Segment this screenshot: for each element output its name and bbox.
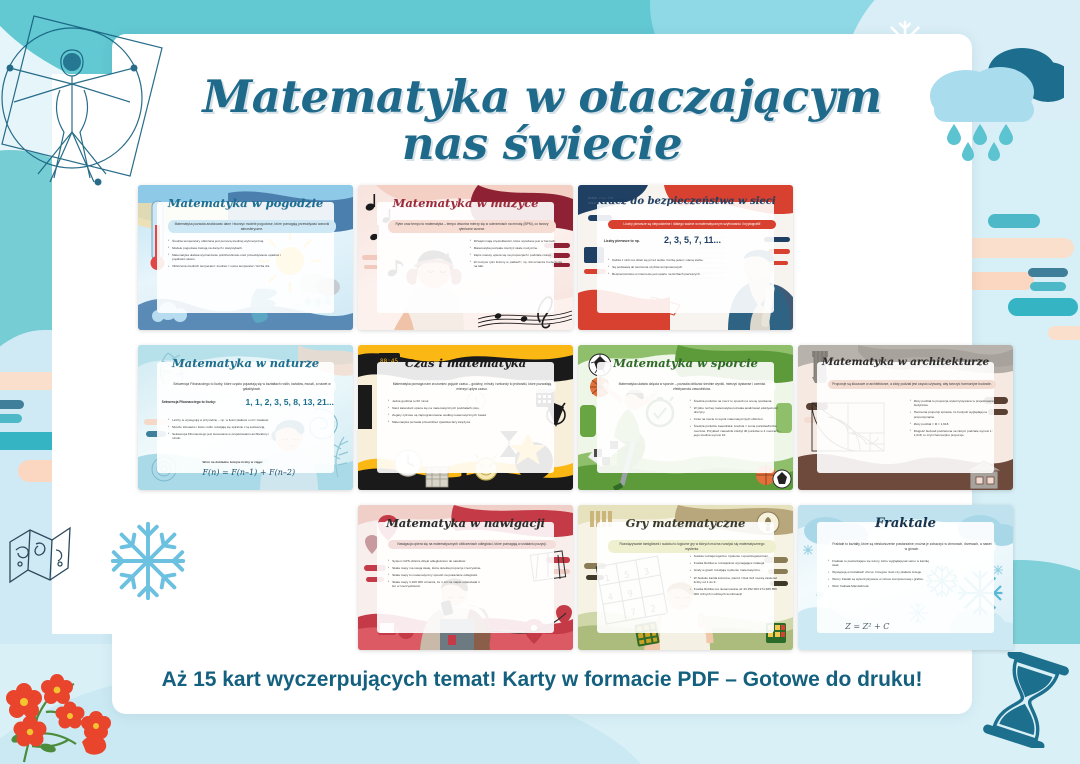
card-lead: Matematyka pozwala analizować dane i two… (168, 220, 336, 234)
bg-blob-cyan-3 (1030, 282, 1066, 291)
card-bullet: Średnia temperatury obliczana jest pomoc… (168, 239, 288, 243)
card-bullet: Wzór fraktala Mandelbrota: (828, 584, 931, 588)
card-bullet: Kostka Rubika to rozwiązanie wymagające … (690, 561, 782, 565)
card-bullet: Złoty podział to proporcja wykorzystywan… (910, 399, 1002, 408)
card-bullet: Zegary cyfrowe są zaprogramowane według … (388, 413, 500, 417)
card-sequence-value: 1, 1, 2, 3, 5, 8, 13, 21... (246, 396, 334, 408)
card-bullet: Skala mapy 1:100 000 oznacza, że 1 cm na… (388, 580, 483, 589)
card-grid: Matematyka w pogodzie Matematyka pozwala… (138, 185, 1018, 665)
card-bullet: Muszle ślimaków i liście roślin rozwijaj… (168, 425, 271, 429)
page-title-line-1: Matematyka w otaczającym (112, 74, 972, 121)
card-bullet-list: Średnia temperatury obliczana jest pomoc… (168, 239, 288, 272)
card-bullet: Średnia punktów zawodnika: średnia = sum… (690, 424, 782, 437)
card-bullet: Harmonia proporcji sprawia, że budynki w… (910, 410, 1002, 419)
card-bullet: Kostka Rubika ma niesamowicie aż 43 252 … (690, 587, 782, 596)
card-sport[interactable]: Matematyka w sporcie Matematyka ułatwia … (578, 345, 793, 490)
bg-blob-navy-2 (1028, 268, 1068, 277)
card-lead: Nawigacja opiera się na matematycznych o… (388, 540, 556, 549)
card-lead: Matematyka ułatwia dzięcia w sporcie – p… (608, 380, 776, 394)
card-bullet: Występują w kształtach chmur, brzegów rz… (828, 570, 931, 574)
card-title: Matematyka w naturze (138, 355, 353, 372)
bg-blob-peach-5 (1048, 326, 1080, 340)
card-nature[interactable]: Matematyka w naturze Sekwencja Fibonacci… (138, 345, 353, 490)
card-games[interactable]: 153 49 72 (578, 505, 793, 650)
hourglass-icon (980, 652, 1072, 748)
card-bullet: W piłce nożnej matematyka pozwala analiz… (690, 406, 782, 415)
bg-blob-navy-1 (0, 400, 24, 409)
card-row: Matematyka w naturze Sekwencja Fibonacci… (138, 345, 1018, 490)
card-bullet: Jedna godzina to 60 minut. (388, 399, 500, 403)
card-formula: Z = Z² + C (845, 621, 889, 633)
card-bullet-list: Dźwięki mają częstotliwości, które wyraż… (470, 239, 562, 272)
card-bullet-list: Złoty podział to proporcja wykorzystywan… (910, 399, 1002, 441)
card-title: Fraktale (798, 515, 1013, 534)
card-bullet: Skala mapy ma swoją skalę, która określa… (388, 566, 483, 570)
card-time[interactable]: 88:45 (358, 345, 573, 490)
card-weather[interactable]: Matematyka w pogodzie Matematyka pozwala… (138, 185, 353, 330)
card-formula-label: Wzór na dokładne kolejne liczby w ciągu: (203, 460, 264, 464)
card-lead: Liczby pierwsze są niepodzielne i dlateg… (608, 220, 776, 229)
card-bullet: Złoty podział = Φ ≈ 1,618. (910, 422, 1002, 426)
card-title: Klucz do bezpieczeństwa w sieci (578, 195, 793, 210)
bg-blob-teal-3 (1008, 298, 1078, 316)
card-bullet-list: System GPS oblicza dzięki odległościom d… (388, 559, 483, 592)
card-lead: Matematyka pomaga nam zrozumieć pojęcie … (388, 380, 556, 394)
card-bullet: Każda z nich ma dzieli się przez siebie … (608, 258, 716, 262)
card-bullet-list: Fraktale to powtarzające się wzory, któr… (828, 559, 931, 592)
card-bullet: Fraktale to powtarzające się wzory, któr… (828, 559, 931, 568)
card-title: Matematyka w muzyce (358, 195, 573, 212)
card-lead: Sekwencja Fibonacciego to liczby, które … (168, 380, 336, 394)
card-sequence-label: Liczby pierwsze to np. (604, 239, 640, 244)
card-title: Matematyka w pogodzie (138, 195, 353, 212)
card-bullet: W muzyce rytm liczony w „taktach”, np. 4… (470, 260, 562, 269)
card-bullet-list: Każda z nich ma dzieli się przez siebie … (608, 258, 716, 279)
poster-canvas: Matematyka w otaczającym nas świecie (0, 0, 1080, 764)
card-fractals[interactable]: Fraktale Fraktale to kształty, które są … (798, 505, 1013, 650)
card-bullet-list: Średnia punktów na mecz to sposób na oce… (690, 399, 782, 441)
card-row: Matematyka w nawigacji Nawigacja opiera … (138, 505, 1018, 650)
card-bullet: Średnia punktów na mecz to sposób na oce… (690, 399, 782, 403)
card-bullet: Dźwięki mają częstotliwości, które wyraż… (470, 239, 562, 243)
card-bullet: Modele pogodowe bazują na danych i staty… (168, 246, 288, 250)
bg-blob-cyan-1 (0, 414, 22, 423)
card-bullet: Nasz kalendarz opiera się na matematyczn… (388, 406, 500, 410)
card-lead: Rozwiązywanie łamigłówek i sudoku to log… (608, 540, 776, 554)
card-title: Czas i matematyka (358, 355, 573, 372)
page-title-line-2: nas świecie (112, 121, 972, 168)
folded-map-drawing (4, 520, 76, 592)
card-sequence-label: Sekwencja Fibonacciego to liczby: (162, 400, 216, 405)
card-bullet: Matematyka ułatwia wyznaczanie pobliża k… (168, 253, 288, 262)
footer-caption: Aż 15 kart wyczerpujących temat! Karty w… (112, 668, 972, 692)
card-bullet: Długość budowli podzielona na złotym pod… (910, 429, 1002, 438)
card-network-security[interactable]: 01010110100101 10110010101101 0101101001… (578, 185, 793, 330)
card-formula: F(n) = F(n–1) + F(n–2) (203, 467, 296, 479)
card-bullet: Obliczenia średnich temperatur: średnia … (168, 264, 288, 268)
card-title: Matematyka w architekturze (798, 355, 1013, 370)
card-music[interactable]: Matematyka w muzyce Rytm oraz tempo to m… (358, 185, 573, 330)
card-row: Matematyka w pogodzie Matematyka pozwala… (138, 185, 1018, 330)
card-bullet: Skala mapy to matematyczny sposób na pok… (388, 573, 483, 577)
card-bullet: Sekwencja Fibonacciego jest stosowana w … (168, 432, 271, 441)
card-lead: Rytm oraz tempo to matematyka – tempo ut… (388, 220, 556, 234)
page-title: Matematyka w otaczającym nas świecie (112, 74, 972, 168)
card-bullet: Są podstawą do tworzenia szyfrów kompute… (608, 265, 716, 269)
card-bullet-list: Sudoku rozwija logiczne myślenie i spost… (690, 554, 782, 598)
card-bullet-list: Jedna godzina to 60 minut. Nasz kalendar… (388, 399, 500, 427)
card-sequence-value: 2, 3, 5, 7, 11... (664, 234, 721, 247)
card-bullet: System GPS oblicza dzięki odległościom d… (388, 559, 483, 563)
card-architecture[interactable]: Matematyka w architekturze Proporcje są … (798, 345, 1013, 490)
card-title: Matematyka w sporcie (578, 355, 793, 372)
card-navigation[interactable]: Matematyka w nawigacji Nawigacja opiera … (358, 505, 573, 650)
card-bullet: Liczby te występują w przyrodzie – np. w… (168, 418, 271, 422)
card-lead: Fraktale to kształty, które są nieskończ… (828, 540, 996, 554)
card-bullet: Sudoku rozwija logiczne myślenie i spost… (690, 554, 782, 558)
card-bullet: Matematyka pozwala przewidzieć zjawiska … (388, 420, 500, 424)
card-bullet-list: Liczby te występują w przyrodzie – np. w… (168, 418, 271, 444)
card-bullet: Wzory fraktali są wykorzystywane w sztuc… (828, 577, 931, 581)
card-bullet: Bezpieczeństwo w internecie jest oparte … (608, 272, 716, 276)
card-bullet: Grafy w grach rozwijają myślenie matemat… (690, 568, 782, 572)
card-title: Matematyka w nawigacji (358, 515, 573, 532)
card-lead: Proporcje są kluczowe w architekturze, a… (828, 380, 996, 389)
card-title: Gry matematyczne (578, 515, 793, 532)
card-bullet: W Sudoku każda kolumna, wiersz i blok 3x… (690, 576, 782, 585)
card-bullet: Czas na mecie to wynik matematycznych ob… (690, 417, 782, 421)
card-bullet: Matematyka pozwala mierzyć skale muzyczn… (470, 246, 562, 250)
card-bullet: Zapis nutowy opiera się na proporcjach i… (470, 253, 562, 257)
